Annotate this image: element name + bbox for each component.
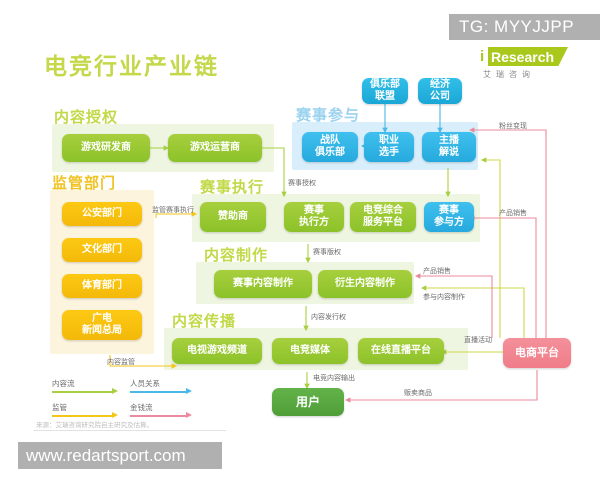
node-event-content-production[interactable]: 赛事内容制作 [214, 270, 312, 298]
legend-line-0 [52, 391, 112, 393]
node-event-executor[interactable]: 赛事 执行方 [284, 202, 344, 232]
node-esports-media[interactable]: 电竞媒体 [272, 338, 348, 364]
legend-arrow-1 [186, 388, 192, 394]
node-ecommerce-platform[interactable]: 电商平台 [503, 338, 571, 368]
source-note: 来源：艾瑞咨询研究院自主研究及估算。 [36, 419, 153, 429]
node-event-participant[interactable]: 赛事 参与方 [424, 202, 474, 232]
edge-label-sell-goods: 贩卖商品 [404, 388, 432, 398]
group-label-event-execution: 赛事执行 [200, 176, 264, 197]
legend-label-0: 内容流 [52, 378, 75, 389]
logo-letter-i: i [480, 48, 484, 65]
node-pro-player[interactable]: 职业 选手 [364, 132, 414, 162]
node-sponsor[interactable]: 赞助商 [200, 202, 266, 232]
legend-arrow-3 [186, 412, 192, 418]
node-culture-dept[interactable]: 文化部门 [62, 238, 142, 262]
logo-badge: i Research [478, 46, 568, 67]
node-sports-dept[interactable]: 体育部门 [62, 274, 142, 298]
edge-label-live-event: 直播活动 [464, 335, 492, 345]
group-label-content-distribution: 内容传播 [172, 310, 236, 331]
legend-line-3 [130, 415, 186, 417]
logo-chinese-name: 艾瑞咨询 [483, 69, 535, 80]
legend-arrow-2 [112, 412, 118, 418]
infographic-canvas: 内容授权 监管部门 赛事参与 赛事执行 内容制作 内容传播 游戏研发商 游戏运营… [0, 0, 600, 480]
legend-label-3: 金钱流 [130, 402, 153, 413]
node-game-operator[interactable]: 游戏运营商 [168, 134, 262, 162]
node-streamer-caster[interactable]: 主播 解说 [422, 132, 476, 162]
legend-line-1 [130, 391, 186, 393]
edge-label-product-sales-right: 产品销售 [499, 208, 527, 218]
legend-label-2: 监管 [52, 402, 67, 413]
edge-label-product-sales-mid: 产品销售 [423, 266, 451, 276]
group-label-event-participation: 赛事参与 [296, 104, 360, 125]
node-user[interactable]: 用户 [272, 388, 344, 416]
iresearch-logo: i Research 艾瑞咨询 [478, 46, 568, 80]
node-sarft[interactable]: 广电 新闻总局 [62, 310, 142, 340]
logo-wordmark: Research [491, 49, 554, 65]
edge-label-event-authorization: 赛事授权 [288, 178, 316, 188]
edge-label-event-copyright: 赛事版权 [313, 247, 341, 257]
node-club-alliance[interactable]: 俱乐部 联盟 [362, 78, 408, 104]
page-title: 电竞行业产业链 [44, 47, 219, 81]
legend-arrow-0 [112, 388, 118, 394]
group-label-content-production: 内容制作 [204, 244, 268, 265]
node-tv-game-channel[interactable]: 电视游戏频道 [172, 338, 262, 364]
watermark-top: TG: MYYJJPP [449, 14, 600, 40]
node-live-streaming-platform[interactable]: 在线直播平台 [358, 338, 444, 364]
edge-label-fan-monetization: 粉丝变现 [499, 121, 527, 131]
node-game-developer[interactable]: 游戏研发商 [62, 134, 150, 162]
node-esports-platform[interactable]: 电竞综合 服务平台 [350, 202, 416, 232]
edge-label-content-regulation: 内容监管 [107, 357, 135, 367]
edge-label-join-content-production: 参与内容制作 [423, 292, 465, 302]
group-label-regulator: 监管部门 [52, 172, 116, 193]
edge-label-regulate-event-execution: 监管赛事执行 [152, 205, 194, 215]
node-agency-company[interactable]: 经济 公司 [418, 78, 462, 104]
legend-line-2 [52, 415, 112, 417]
legend: 内容流 人员关系 监管 金钱流 [52, 378, 252, 418]
edge-label-esports-content-output: 电竞内容输出 [313, 373, 355, 383]
watermark-bottom: www.redartsport.com [18, 442, 222, 469]
node-team-club[interactable]: 战队 俱乐部 [302, 132, 358, 162]
node-derivative-content-production[interactable]: 衍生内容制作 [318, 270, 412, 298]
source-divider [34, 430, 226, 431]
edge-label-content-distribution-right: 内容发行权 [311, 312, 346, 322]
node-police-dept[interactable]: 公安部门 [62, 202, 142, 226]
legend-label-1: 人员关系 [130, 378, 160, 389]
group-label-content-license: 内容授权 [54, 106, 118, 127]
